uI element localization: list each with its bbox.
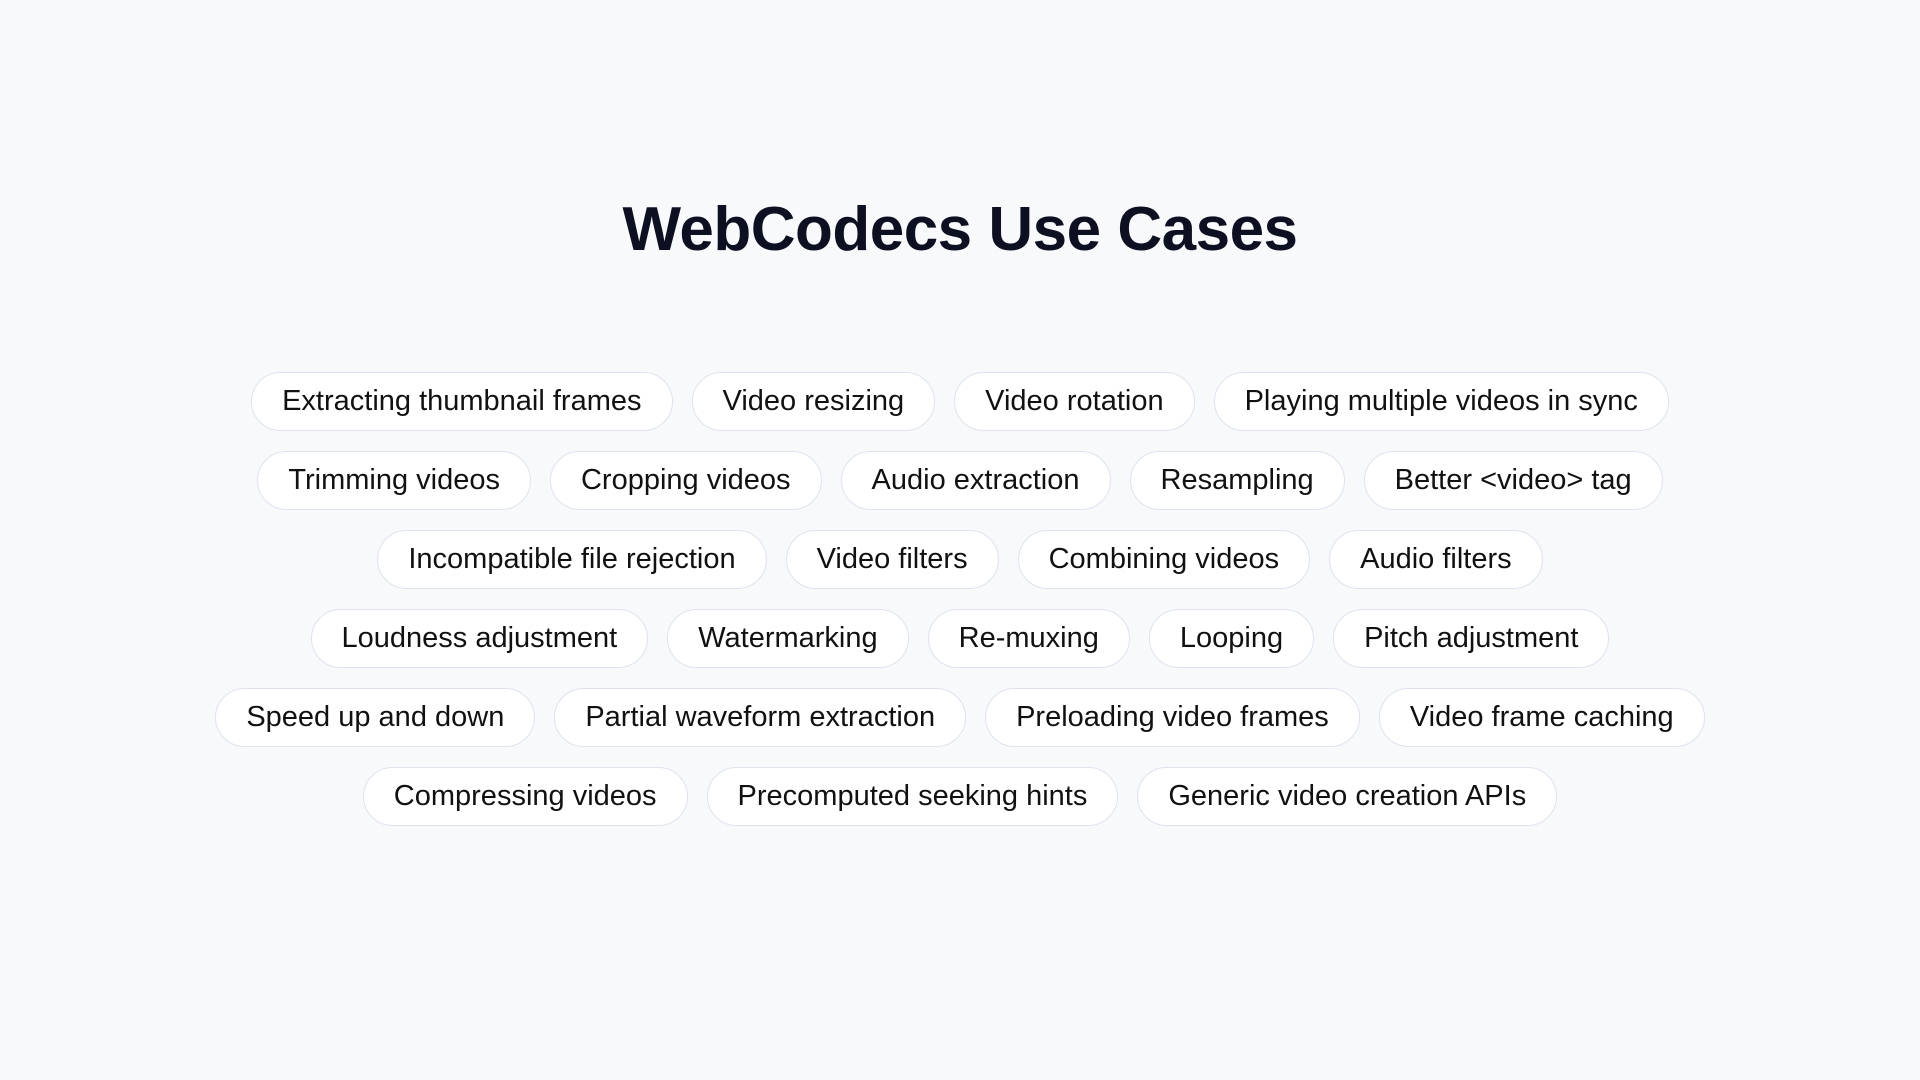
use-case-tag[interactable]: Pitch adjustment <box>1333 609 1609 668</box>
use-case-tag[interactable]: Audio filters <box>1329 530 1543 589</box>
use-case-tag[interactable]: Generic video creation APIs <box>1137 767 1557 826</box>
use-case-tag[interactable]: Playing multiple videos in sync <box>1214 372 1669 431</box>
use-case-tag[interactable]: Better <video> tag <box>1364 451 1663 510</box>
page-root: WebCodecs Use Cases Extracting thumbnail… <box>0 0 1920 1080</box>
tag-row: Extracting thumbnail framesVideo resizin… <box>251 372 1669 431</box>
tag-row: Speed up and downPartial waveform extrac… <box>215 688 1704 747</box>
tag-row: Loudness adjustmentWatermarkingRe-muxing… <box>311 609 1610 668</box>
use-case-tag[interactable]: Incompatible file rejection <box>377 530 766 589</box>
page-title: WebCodecs Use Cases <box>622 196 1297 264</box>
use-case-tag[interactable]: Audio extraction <box>841 451 1111 510</box>
use-case-tag[interactable]: Preloading video frames <box>985 688 1360 747</box>
use-case-tag[interactable]: Speed up and down <box>215 688 535 747</box>
tag-row: Incompatible file rejectionVideo filters… <box>377 530 1542 589</box>
use-case-tag[interactable]: Resampling <box>1130 451 1345 510</box>
use-case-tag[interactable]: Trimming videos <box>257 451 531 510</box>
use-case-tag[interactable]: Video filters <box>786 530 999 589</box>
use-case-tag[interactable]: Precomputed seeking hints <box>707 767 1119 826</box>
tag-cloud: Extracting thumbnail framesVideo resizin… <box>140 372 1780 846</box>
use-case-tag[interactable]: Extracting thumbnail frames <box>251 372 672 431</box>
use-case-tag[interactable]: Video rotation <box>954 372 1194 431</box>
use-case-tag[interactable]: Compressing videos <box>363 767 688 826</box>
use-case-tag[interactable]: Video frame caching <box>1379 688 1705 747</box>
use-case-tag[interactable]: Cropping videos <box>550 451 822 510</box>
use-case-tag[interactable]: Re-muxing <box>928 609 1130 668</box>
use-case-tag[interactable]: Looping <box>1149 609 1314 668</box>
use-case-tag[interactable]: Loudness adjustment <box>311 609 649 668</box>
use-case-tag[interactable]: Partial waveform extraction <box>554 688 966 747</box>
use-case-tag[interactable]: Video resizing <box>692 372 936 431</box>
use-case-tag[interactable]: Combining videos <box>1018 530 1311 589</box>
tag-row: Trimming videosCropping videosAudio extr… <box>257 451 1662 510</box>
tag-row: Compressing videosPrecomputed seeking hi… <box>363 767 1557 826</box>
use-case-tag[interactable]: Watermarking <box>667 609 908 668</box>
